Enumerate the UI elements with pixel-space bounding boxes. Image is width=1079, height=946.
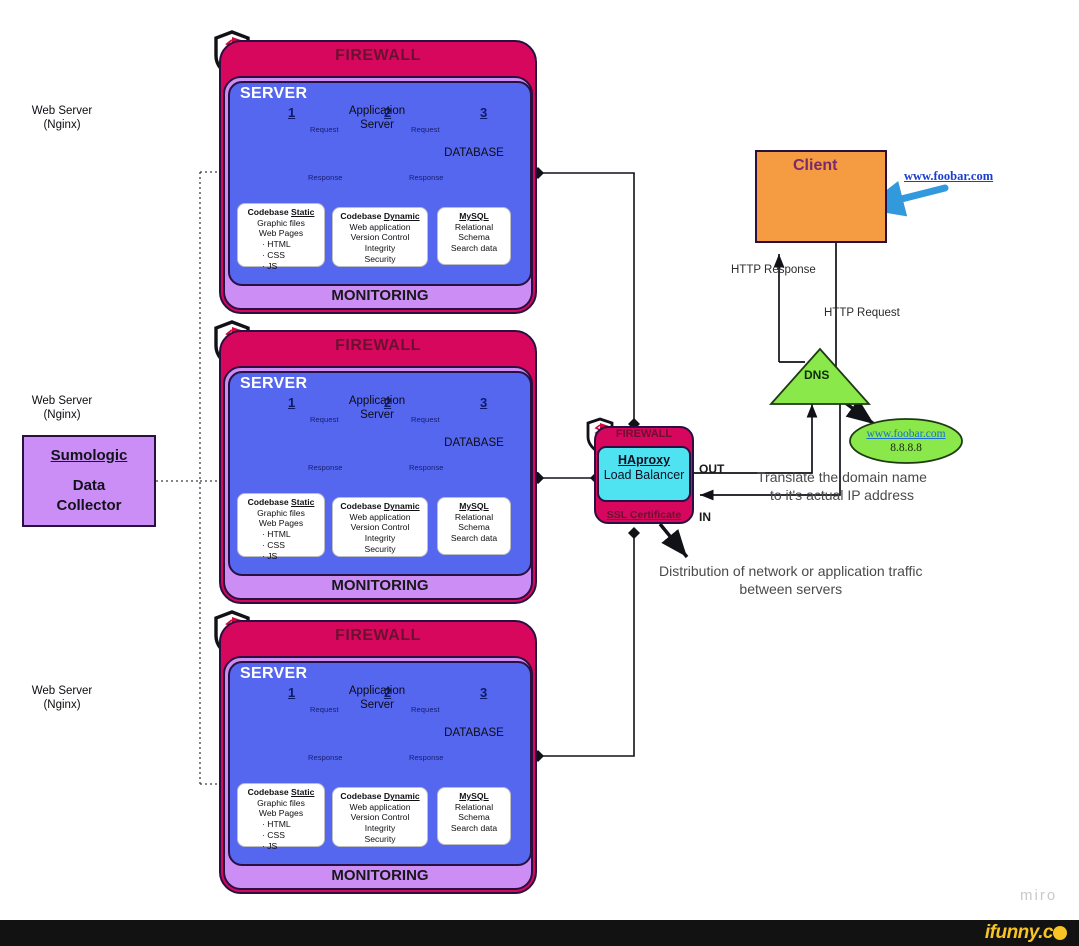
server-block-1[interactable]: FIREWALL SERVER 1 2 3 MONITORING — [219, 40, 537, 314]
load-balancer-block[interactable]: FIREWALL HAproxy Load Balancer SSL Certi… — [594, 426, 694, 524]
server-label: SERVER — [240, 375, 307, 393]
load-balancer-firewall-label: FIREWALL — [594, 428, 694, 440]
monitoring-label: MONITORING — [225, 287, 535, 304]
dns-label: DNS — [804, 368, 829, 382]
request-label-1b: Request — [411, 125, 440, 134]
server-block-2[interactable]: FIREWALL SERVER 1 2 3 MONITORING — [219, 330, 537, 604]
dns-note: Translate the domain nameto it's actual … — [757, 469, 927, 505]
http-request-label: HTTP Request — [824, 307, 900, 319]
request-label-2a: Request — [310, 415, 339, 424]
monitoring-shell: SERVER 1 2 3 MONITORING — [223, 76, 533, 310]
haproxy-role: Load Balancer — [599, 468, 689, 482]
http-response-label: HTTP Response — [731, 264, 816, 276]
miro-watermark: miro — [1020, 887, 1057, 904]
firewall-label: FIREWALL — [219, 47, 537, 65]
server-block-3[interactable]: FIREWALL SERVER 1 2 3 MONITORING — [219, 620, 537, 894]
firewall-label: FIREWALL — [219, 337, 537, 355]
server-label: SERVER — [240, 85, 307, 103]
client-label: Client — [793, 157, 837, 175]
sumologic-dotted-bus — [156, 172, 219, 784]
request-label-3a: Request — [310, 705, 339, 714]
node-number-1: 1 — [288, 395, 295, 410]
ifunny-watermark: ifunny.c — [985, 922, 1067, 944]
haproxy-name: HAproxy — [599, 453, 689, 467]
node-number-1: 1 — [288, 685, 295, 700]
response-label-1a: Response — [308, 173, 343, 182]
info-card-static-1: Codebase Static Graphic files Web Pages … — [237, 203, 325, 267]
ssl-certificate-label: SSL Certificate — [594, 509, 694, 521]
resolved-ip-label: www.foobar.com8.8.8.8 — [850, 427, 962, 456]
response-label-1b: Response — [409, 173, 444, 182]
node-number-3: 3 — [480, 685, 487, 700]
haproxy-card[interactable]: HAproxy Load Balancer — [597, 446, 691, 502]
info-card-mysql-2: MySQL Relational Schema Search data — [437, 497, 511, 555]
sumologic-box[interactable]: Sumologic DataCollector — [22, 435, 156, 527]
node-number-2: 2 — [384, 395, 391, 410]
smiley-icon — [1053, 926, 1067, 940]
node-number-3: 3 — [480, 395, 487, 410]
response-label-3a: Response — [308, 753, 343, 762]
bottom-bar — [0, 920, 1079, 946]
load-balancer-note: Distribution of network or application t… — [659, 563, 923, 599]
response-label-2a: Response — [308, 463, 343, 472]
sumologic-subtitle: DataCollector — [24, 476, 154, 517]
request-label-2b: Request — [411, 415, 440, 424]
node-number-3: 3 — [480, 105, 487, 120]
node-number-2: 2 — [384, 685, 391, 700]
loadbalancer-note-arrow — [660, 524, 687, 557]
info-card-mysql-3: MySQL Relational Schema Search data — [437, 787, 511, 845]
node-number-1: 1 — [288, 105, 295, 120]
info-card-dynamic-3: Codebase Dynamic Web application Version… — [332, 787, 428, 847]
info-card-static-3: Codebase Static Graphic files Web Pages … — [237, 783, 325, 847]
monitoring-label: MONITORING — [225, 577, 535, 594]
info-card-dynamic-1: Codebase Dynamic Web application Version… — [332, 207, 428, 267]
info-card-mysql-1: MySQL Relational Schema Search data — [437, 207, 511, 265]
response-label-2b: Response — [409, 463, 444, 472]
server-label: SERVER — [240, 665, 307, 683]
monitoring-label: MONITORING — [225, 867, 535, 884]
in-label: IN — [699, 510, 711, 524]
info-card-static-2: Codebase Static Graphic files Web Pages … — [237, 493, 325, 557]
firewall-label: FIREWALL — [219, 627, 537, 645]
monitoring-shell: SERVER 1 2 3 MONITORING — [223, 366, 533, 600]
monitoring-shell: SERVER 1 2 3 MONITORING — [223, 656, 533, 890]
response-label-3b: Response — [409, 753, 444, 762]
info-card-dynamic-2: Codebase Dynamic Web application Version… — [332, 497, 428, 557]
client-url-link[interactable]: www.foobar.com — [904, 169, 993, 184]
diagram-canvas: FIREWALL SERVER 1 2 3 MONITORING Web Ser… — [0, 0, 1079, 946]
request-label-1a: Request — [310, 125, 339, 134]
out-label: OUT — [699, 462, 724, 476]
sumologic-title: Sumologic — [24, 447, 154, 464]
request-label-3b: Request — [411, 705, 440, 714]
node-number-2: 2 — [384, 105, 391, 120]
